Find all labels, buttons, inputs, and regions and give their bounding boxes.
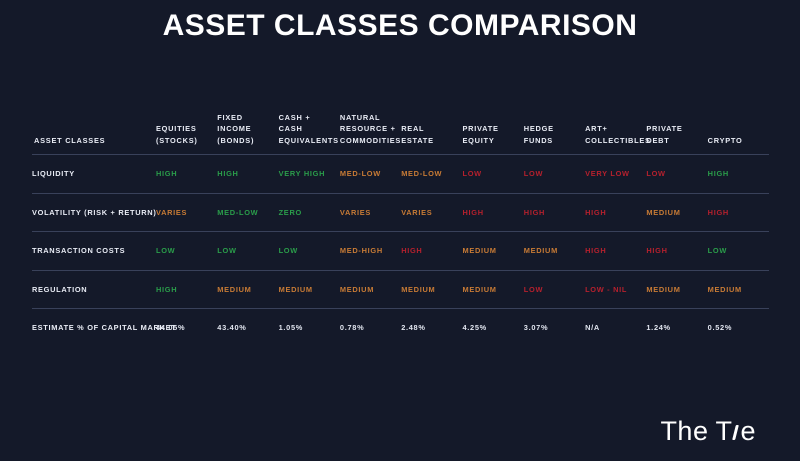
table-cell: MEDIUM xyxy=(524,232,585,271)
column-header-cash-equivalents: CASH + CASH EQUIVALENTS xyxy=(279,96,340,155)
table-cell: 0.52% xyxy=(708,309,769,347)
table-cell: 0.78% xyxy=(340,309,401,347)
table-cell: 1.24% xyxy=(646,309,707,347)
table-row: TRANSACTION COSTSLOWLOWLOWMED-HIGHHIGHME… xyxy=(32,232,769,271)
row-label: REGULATION xyxy=(32,270,156,309)
table-row: LIQUIDITYHIGHHIGHVERY HIGHMED-LOWMED-LOW… xyxy=(32,155,769,194)
logo-letter-e: e xyxy=(740,416,756,447)
table-cell: 3.07% xyxy=(524,309,585,347)
table-cell: HIGH xyxy=(585,193,646,232)
table-cell: MEDIUM xyxy=(401,270,462,309)
asset-classes-comparison-table: ASSET CLASSES EQUITIES (STOCKS) FIXED IN… xyxy=(32,96,769,347)
logo-letter-t: T xyxy=(715,416,732,447)
table-cell: VARIES xyxy=(401,193,462,232)
table-cell: 1.05% xyxy=(279,309,340,347)
table-row: ESTIMATE % OF CAPITAL MARKET44.05%43.40%… xyxy=(32,309,769,347)
table-cell: VERY HIGH xyxy=(279,155,340,194)
table-cell: MEDIUM xyxy=(279,270,340,309)
row-label: TRANSACTION COSTS xyxy=(32,232,156,271)
page-title: ASSET CLASSES COMPARISON xyxy=(0,0,800,43)
table-cell: MEDIUM xyxy=(217,270,278,309)
row-label: VOLATILITY (RISK + RETURN) xyxy=(32,193,156,232)
table-cell: HIGH xyxy=(524,193,585,232)
table-cell: MEDIUM xyxy=(340,270,401,309)
table-cell: HIGH xyxy=(646,232,707,271)
table-row: VOLATILITY (RISK + RETURN)VARIESMED-LOWZ… xyxy=(32,193,769,232)
table-cell: VERY LOW xyxy=(585,155,646,194)
table-cell: LOW xyxy=(462,155,523,194)
table-cell: HIGH xyxy=(217,155,278,194)
column-header-art-collectibles: ART+ COLLECTIBLES xyxy=(585,96,646,155)
table-body: LIQUIDITYHIGHHIGHVERY HIGHMED-LOWMED-LOW… xyxy=(32,155,769,347)
table-cell: MEDIUM xyxy=(462,232,523,271)
table-cell: LOW xyxy=(524,155,585,194)
column-header-natural-resource-commodities: NATURAL RESOURCE + COMMODITIES xyxy=(340,96,401,155)
column-header-asset-classes: ASSET CLASSES xyxy=(32,96,156,155)
table-cell: MED-LOW xyxy=(401,155,462,194)
table-cell: HIGH xyxy=(585,232,646,271)
asset-classes-table-container: ASSET CLASSES EQUITIES (STOCKS) FIXED IN… xyxy=(32,96,768,347)
column-header-fixed-income: FIXED INCOME (BONDS) xyxy=(217,96,278,155)
column-header-private-debt: PRIVATE DEBT xyxy=(646,96,707,155)
table-cell: HIGH xyxy=(708,193,769,232)
table-cell: ZERO xyxy=(279,193,340,232)
table-cell: MED-LOW xyxy=(217,193,278,232)
table-cell: LOW xyxy=(708,232,769,271)
column-header-real-estate: REAL ESTATE xyxy=(401,96,462,155)
table-cell: HIGH xyxy=(401,232,462,271)
logo-word-the: The xyxy=(660,416,708,447)
table-cell: LOW xyxy=(646,155,707,194)
table-cell: MED-LOW xyxy=(340,155,401,194)
table-cell: HIGH xyxy=(156,155,217,194)
table-cell: N/A xyxy=(585,309,646,347)
column-header-hedge-funds: HEDGE FUNDS xyxy=(524,96,585,155)
table-cell: MEDIUM xyxy=(646,193,707,232)
table-cell: MED-HIGH xyxy=(340,232,401,271)
row-label: LIQUIDITY xyxy=(32,155,156,194)
column-header-equities: EQUITIES (STOCKS) xyxy=(156,96,217,155)
table-cell: HIGH xyxy=(462,193,523,232)
table-cell: HIGH xyxy=(156,270,217,309)
table-row: REGULATIONHIGHMEDIUMMEDIUMMEDIUMMEDIUMME… xyxy=(32,270,769,309)
table-cell: VARIES xyxy=(340,193,401,232)
table-cell: LOW xyxy=(279,232,340,271)
table-cell: MEDIUM xyxy=(646,270,707,309)
table-cell: MEDIUM xyxy=(462,270,523,309)
table-cell: HIGH xyxy=(708,155,769,194)
table-cell: VARIES xyxy=(156,193,217,232)
logo-slash-i-icon xyxy=(732,422,740,441)
table-cell: LOW xyxy=(217,232,278,271)
table-cell: LOW xyxy=(524,270,585,309)
table-cell: LOW - NIL xyxy=(585,270,646,309)
table-header-row: ASSET CLASSES EQUITIES (STOCKS) FIXED IN… xyxy=(32,96,769,155)
table-cell: MEDIUM xyxy=(708,270,769,309)
column-header-crypto: CRYPTO xyxy=(708,96,769,155)
column-header-private-equity: PRIVATE EQUITY xyxy=(462,96,523,155)
comparison-infographic: ASSET CLASSES COMPARISON ASSET CLASSES E… xyxy=(0,0,800,461)
table-cell: LOW xyxy=(156,232,217,271)
table-cell: 43.40% xyxy=(217,309,278,347)
the-tie-logo: The T e xyxy=(660,416,756,447)
row-label: ESTIMATE % OF CAPITAL MARKET xyxy=(32,309,156,347)
table-cell: 4.25% xyxy=(462,309,523,347)
table-header: ASSET CLASSES EQUITIES (STOCKS) FIXED IN… xyxy=(32,96,769,155)
table-cell: 2.48% xyxy=(401,309,462,347)
table-cell: 44.05% xyxy=(156,309,217,347)
